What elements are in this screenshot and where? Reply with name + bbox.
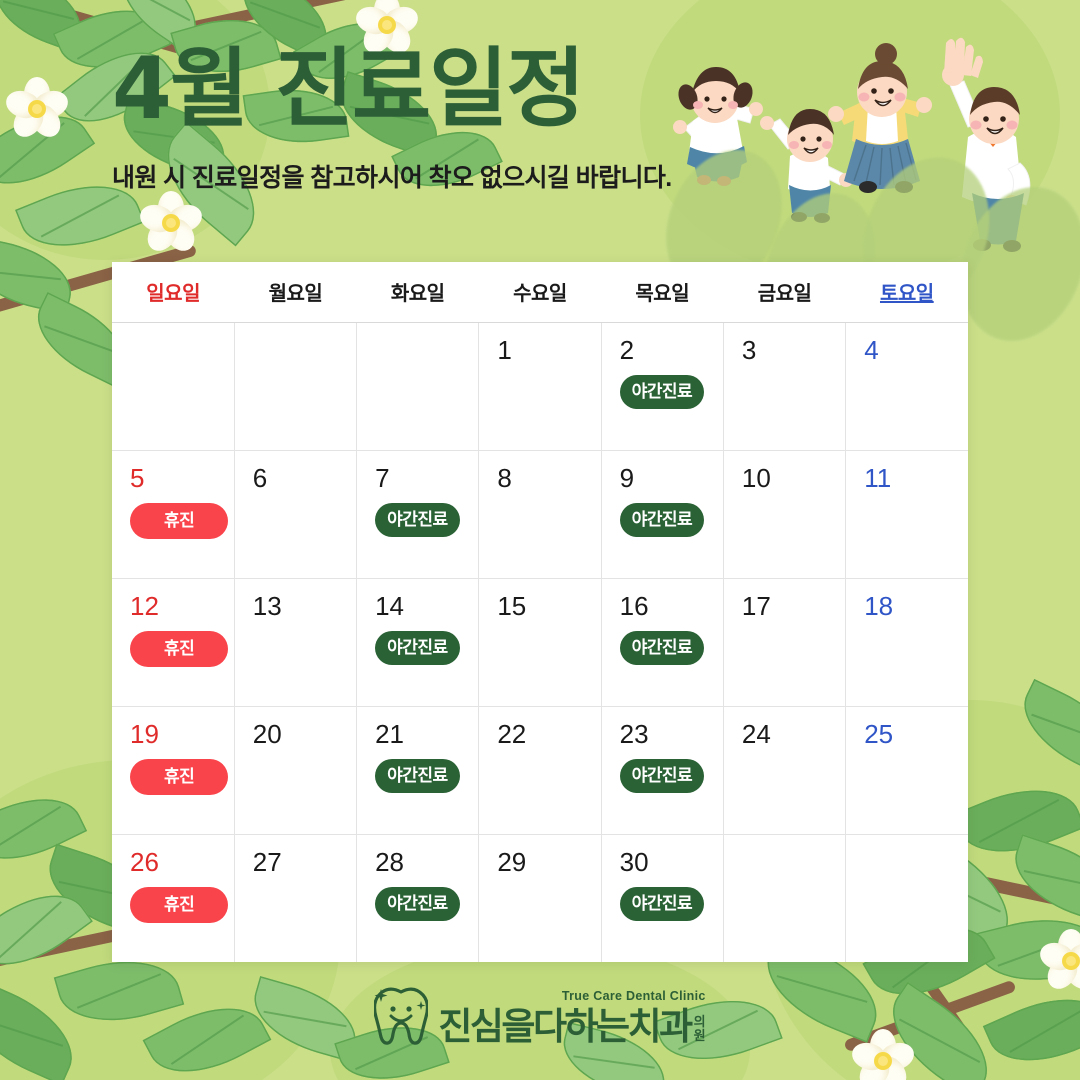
night-clinic-badge: 야간진료 xyxy=(375,759,460,793)
weekday-header-monday: 월요일 xyxy=(234,262,356,322)
calendar-day-cell[interactable]: 9야간진료 xyxy=(601,450,723,578)
day-number: 4 xyxy=(864,337,968,363)
leaf xyxy=(0,873,93,987)
day-number: 21 xyxy=(375,721,478,747)
calendar-week-row: 19휴진2021야간진료2223야간진료2425 xyxy=(112,706,968,834)
calendar-day-cell[interactable]: 2야간진료 xyxy=(601,322,723,450)
day-number: 11 xyxy=(864,465,968,491)
calendar-day-cell[interactable]: 10 xyxy=(723,450,845,578)
weekday-header-wednesday: 수요일 xyxy=(479,262,601,322)
page-header: 4월 진료일정 내원 시 진료일정을 참고하시어 착오 없으시길 바랍니다. xyxy=(112,44,672,194)
calendar-day-cell[interactable]: 5휴진 xyxy=(112,450,234,578)
calendar-week-row: 5휴진67야간진료89야간진료1011 xyxy=(112,450,968,578)
flower xyxy=(6,78,68,140)
leaf xyxy=(0,779,87,879)
calendar-day-cell[interactable]: 17 xyxy=(723,578,845,706)
calendar-day-cell[interactable]: 28야간진료 xyxy=(357,834,479,962)
day-number: 15 xyxy=(497,593,600,619)
calendar-empty-cell xyxy=(112,322,234,450)
calendar-week-row: 12야간진료34 xyxy=(112,322,968,450)
day-number: 10 xyxy=(742,465,845,491)
calendar-day-cell[interactable]: 12휴진 xyxy=(112,578,234,706)
day-number: 13 xyxy=(253,593,356,619)
leaf xyxy=(1009,679,1080,779)
day-number: 30 xyxy=(620,849,723,875)
calendar-day-cell[interactable]: 6 xyxy=(234,450,356,578)
day-number: 20 xyxy=(253,721,356,747)
calendar-day-cell[interactable]: 13 xyxy=(234,578,356,706)
weekday-header-tuesday: 화요일 xyxy=(357,262,479,322)
calendar-day-cell[interactable]: 3 xyxy=(723,322,845,450)
clinic-tagline: True Care Dental Clinic xyxy=(562,989,706,1003)
calendar-day-cell[interactable]: 18 xyxy=(846,578,968,706)
leaf xyxy=(974,904,1080,996)
day-number: 22 xyxy=(497,721,600,747)
day-number: 29 xyxy=(497,849,600,875)
calendar-body: 12야간진료345휴진67야간진료89야간진료101112휴진1314야간진료1… xyxy=(112,322,968,962)
night-clinic-badge: 야간진료 xyxy=(620,375,705,409)
family-illustration xyxy=(650,35,1080,270)
calendar-week-row: 12휴진1314야간진료1516야간진료1718 xyxy=(112,578,968,706)
closed-badge: 휴진 xyxy=(130,759,228,795)
flower xyxy=(1040,930,1080,992)
calendar-day-cell[interactable]: 15 xyxy=(479,578,601,706)
night-clinic-badge: 야간진료 xyxy=(375,887,460,921)
calendar-day-cell[interactable]: 1 xyxy=(479,322,601,450)
page-title: 4월 진료일정 xyxy=(112,44,672,134)
clinic-logo-text: True Care Dental Clinic 진심을다하는치과 의 원 xyxy=(438,1008,705,1045)
day-number: 12 xyxy=(130,593,234,619)
calendar-header-row: 일요일 월요일 화요일 수요일 목요일 금요일 토요일 xyxy=(112,262,968,322)
weekday-header-thursday: 목요일 xyxy=(601,262,723,322)
calendar-day-cell[interactable]: 11 xyxy=(846,450,968,578)
day-number: 23 xyxy=(620,721,723,747)
calendar-empty-cell xyxy=(357,322,479,450)
calendar-day-cell[interactable]: 27 xyxy=(234,834,356,962)
clinic-name: 진심을다하는치과 xyxy=(438,1008,690,1045)
page-subtitle: 내원 시 진료일정을 참고하시어 착오 없으시길 바랍니다. xyxy=(112,158,672,194)
day-number: 26 xyxy=(130,849,234,875)
day-number: 18 xyxy=(864,593,968,619)
calendar-day-cell[interactable]: 25 xyxy=(846,706,968,834)
weekday-header-saturday: 토요일 xyxy=(846,262,968,322)
calendar-day-cell[interactable]: 7야간진료 xyxy=(357,450,479,578)
day-number: 14 xyxy=(375,593,478,619)
leaf xyxy=(0,0,93,53)
calendar-day-cell[interactable]: 30야간진료 xyxy=(601,834,723,962)
leaf xyxy=(953,770,1080,872)
night-clinic-badge: 야간진료 xyxy=(620,887,705,921)
night-clinic-badge: 야간진료 xyxy=(375,631,460,665)
calendar-day-cell[interactable]: 22 xyxy=(479,706,601,834)
calendar-day-cell[interactable]: 8 xyxy=(479,450,601,578)
tooth-smile-icon xyxy=(374,985,428,1045)
calendar-day-cell[interactable]: 24 xyxy=(723,706,845,834)
day-number: 16 xyxy=(620,593,723,619)
clinic-name-suffix: 의 원 xyxy=(694,1015,706,1045)
day-number: 5 xyxy=(130,465,234,491)
flower xyxy=(140,192,202,254)
calendar-day-cell[interactable]: 29 xyxy=(479,834,601,962)
calendar-day-cell[interactable]: 26휴진 xyxy=(112,834,234,962)
day-number: 25 xyxy=(864,721,968,747)
calendar-week-row: 26휴진2728야간진료2930야간진료 xyxy=(112,834,968,962)
calendar-day-cell[interactable]: 19휴진 xyxy=(112,706,234,834)
branch xyxy=(176,0,354,36)
calendar-empty-cell xyxy=(846,834,968,962)
day-number: 7 xyxy=(375,465,478,491)
day-number: 19 xyxy=(130,721,234,747)
day-number: 24 xyxy=(742,721,845,747)
day-number: 8 xyxy=(497,465,600,491)
clinic-suffix-line-1: 의 xyxy=(694,1015,706,1030)
weekday-header-friday: 금요일 xyxy=(723,262,845,322)
night-clinic-badge: 야간진료 xyxy=(375,503,460,537)
calendar-day-cell[interactable]: 16야간진료 xyxy=(601,578,723,706)
day-number: 9 xyxy=(620,465,723,491)
calendar-day-cell[interactable]: 4 xyxy=(846,322,968,450)
closed-badge: 휴진 xyxy=(130,887,228,923)
leaf xyxy=(0,235,79,314)
closed-badge: 휴진 xyxy=(130,631,228,667)
night-clinic-badge: 야간진료 xyxy=(620,503,705,537)
calendar-day-cell[interactable]: 20 xyxy=(234,706,356,834)
calendar-day-cell[interactable]: 14야간진료 xyxy=(357,578,479,706)
clinic-footer: True Care Dental Clinic 진심을다하는치과 의 원 xyxy=(0,985,1080,1045)
clinic-suffix-line-2: 원 xyxy=(694,1029,706,1044)
day-number: 17 xyxy=(742,593,845,619)
night-clinic-badge: 야간진료 xyxy=(620,759,705,793)
day-number: 2 xyxy=(620,337,723,363)
closed-badge: 휴진 xyxy=(130,503,228,539)
night-clinic-badge: 야간진료 xyxy=(620,631,705,665)
schedule-calendar: 일요일 월요일 화요일 수요일 목요일 금요일 토요일 12야간진료345휴진6… xyxy=(112,262,968,962)
calendar-day-cell[interactable]: 23야간진료 xyxy=(601,706,723,834)
calendar-table: 일요일 월요일 화요일 수요일 목요일 금요일 토요일 12야간진료345휴진6… xyxy=(112,262,968,962)
weekday-header-sunday: 일요일 xyxy=(112,262,234,322)
day-number: 28 xyxy=(375,849,478,875)
calendar-empty-cell xyxy=(234,322,356,450)
calendar-empty-cell xyxy=(723,834,845,962)
calendar-day-cell[interactable]: 21야간진료 xyxy=(357,706,479,834)
day-number: 27 xyxy=(253,849,356,875)
day-number: 3 xyxy=(742,337,845,363)
day-number: 1 xyxy=(497,337,600,363)
leaf xyxy=(1003,834,1080,926)
day-number: 6 xyxy=(253,465,356,491)
leaf xyxy=(0,94,95,206)
